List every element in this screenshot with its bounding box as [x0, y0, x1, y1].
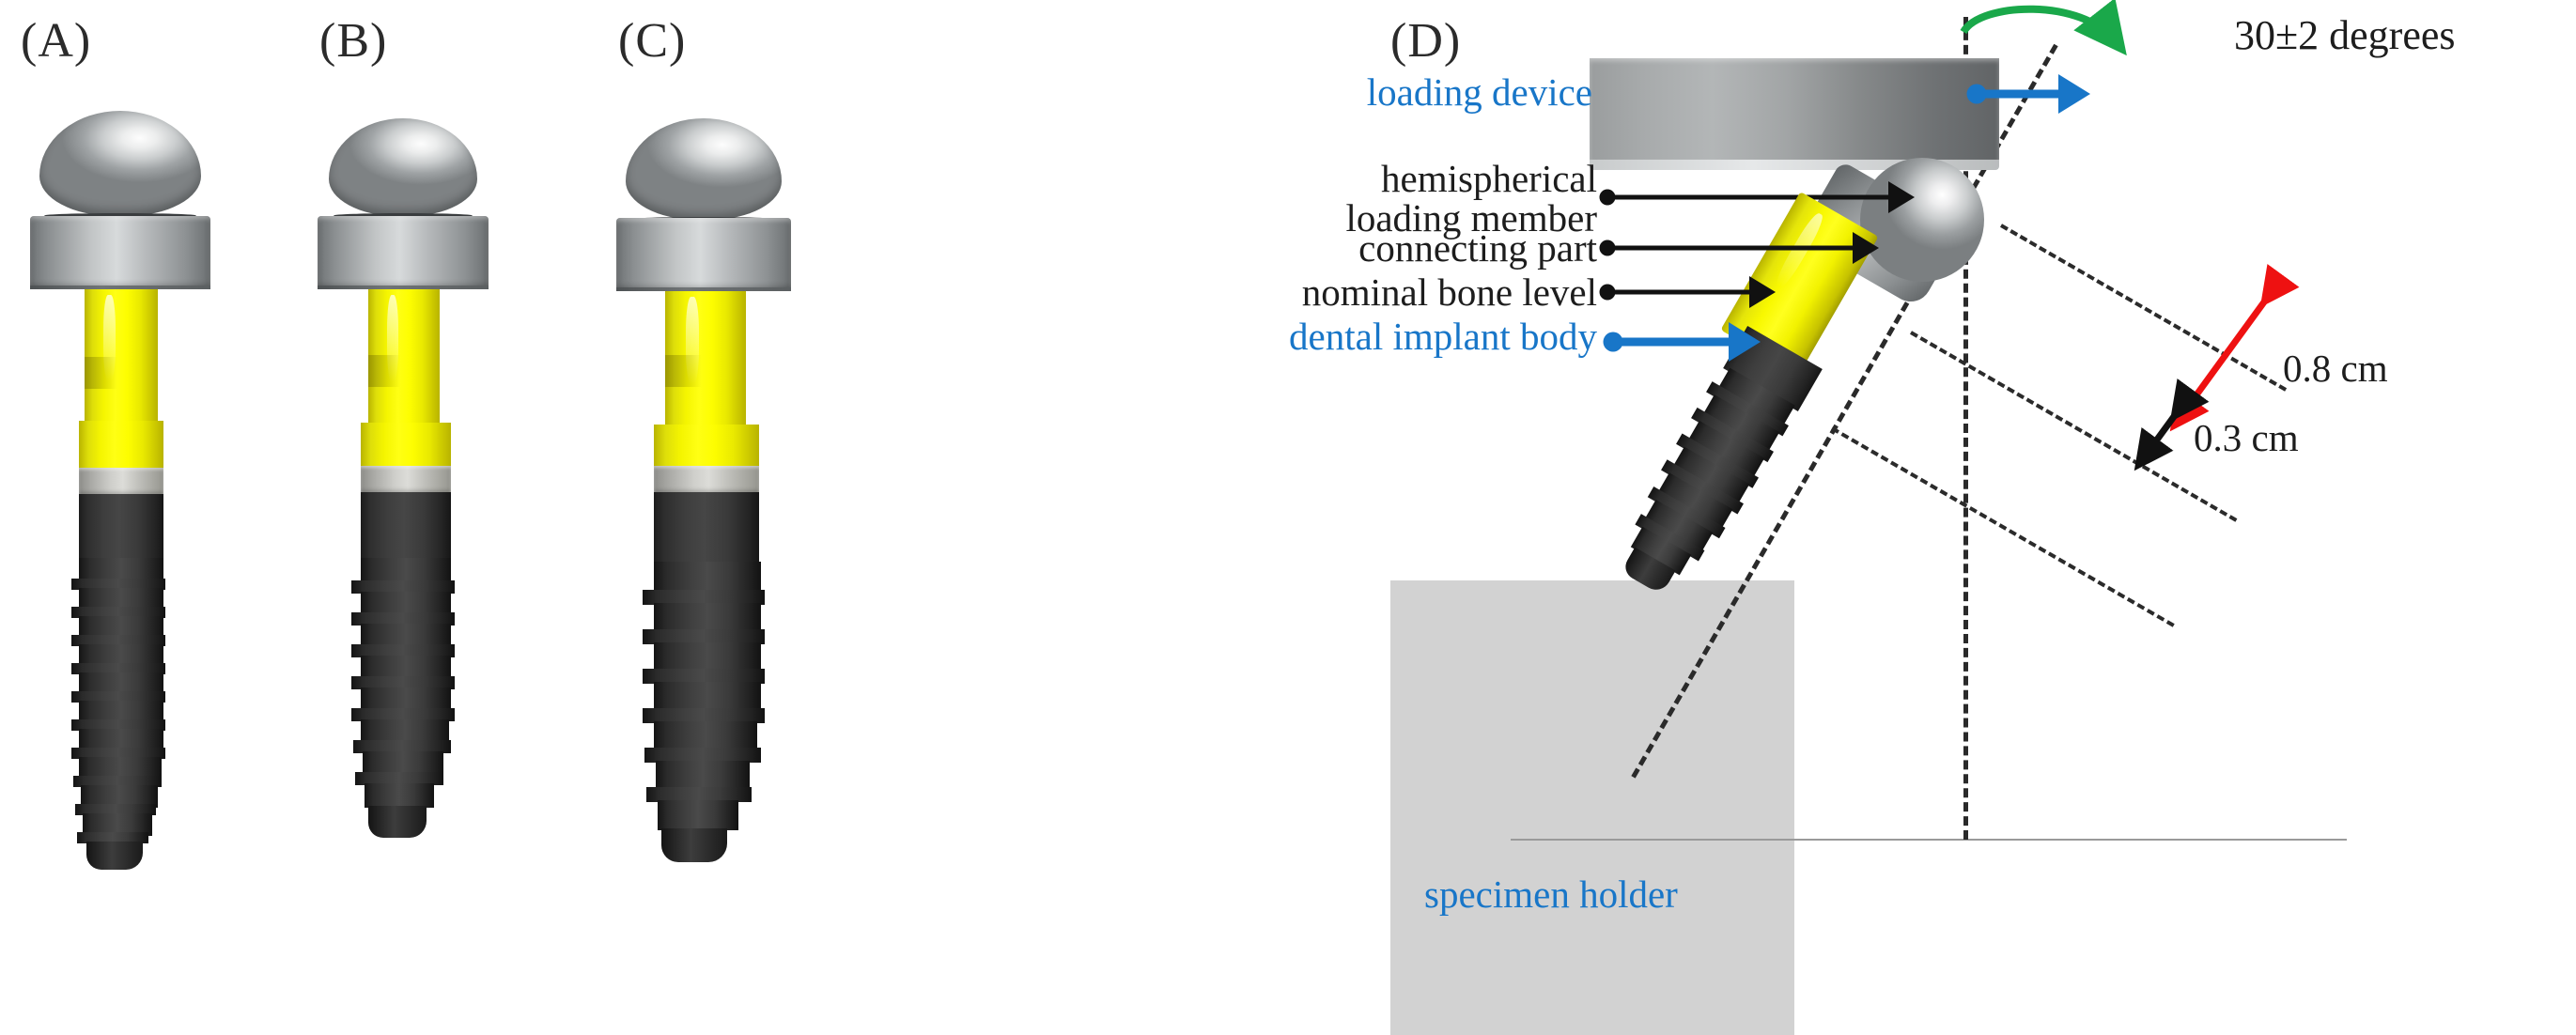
implant-threads-a [66, 558, 177, 868]
nominal-bone-level-band-c [654, 466, 759, 492]
hemispherical-cap-a [39, 111, 201, 216]
dimension-label-0-3cm: 0.3 cm [2194, 415, 2299, 460]
dimension-label-0-8cm: 0.8 cm [2283, 346, 2388, 391]
nominal-bone-level-label: nominal bone level [1287, 273, 1597, 313]
abutment-lower-c [654, 425, 759, 470]
implant-body-threads-d [1603, 363, 1805, 615]
implant-shank-c [654, 492, 759, 565]
hemispherical-cap-b [329, 118, 477, 216]
dental-implant-body-label: dental implant body [1287, 317, 1597, 357]
panel-label-c: (C) [618, 13, 686, 69]
hemispherical-cap-c [626, 118, 782, 220]
metal-collar-a [30, 216, 210, 289]
ground-baseline [1511, 839, 2347, 841]
implant-threads-c [637, 562, 778, 862]
abutment-lower-a [79, 421, 163, 470]
abutment-connecting-part-c [665, 291, 746, 432]
loading-device-leader-wrap [1970, 73, 2092, 115]
abutment-waist-c [665, 355, 746, 387]
panel-label-d: (D) [1390, 13, 1461, 69]
implant-shank-b [361, 492, 451, 562]
loading-device [1590, 58, 1999, 160]
implant-figure-a [17, 111, 224, 533]
abutment-waist-a [85, 357, 158, 389]
metal-collar-b [318, 216, 489, 289]
implant-shank-a [79, 494, 163, 562]
angle-annotation: 30±2 degrees [2234, 11, 2456, 59]
abutment-connecting-part-a [85, 289, 158, 428]
implant-body-c [599, 492, 834, 962]
loading-device-label: loading device [1311, 73, 1592, 113]
panel-d-loading-test-schematic: (D) specimen holder 30±2 degrees loading… [1390, 0, 2576, 1035]
specimen-holder [1390, 580, 1794, 1035]
nominal-bone-level-band-b [361, 466, 451, 492]
metal-collar-c [616, 218, 791, 291]
nominal-bone-level-band-a [79, 468, 163, 494]
connecting-part-label: connecting part [1320, 229, 1597, 269]
implant-body-a [17, 494, 224, 982]
abutment-lower-b [361, 423, 451, 470]
implant-figure-c [599, 111, 834, 533]
implant-threads-b [346, 558, 466, 840]
implant-figure-b [303, 111, 519, 533]
dental-implant-body [1602, 323, 1827, 616]
implant-body-b [303, 492, 519, 962]
abutment-connecting-part-b [368, 289, 440, 430]
abutment-waist-b [368, 355, 440, 387]
panel-label-a: (A) [21, 13, 91, 69]
panel-label-b: (B) [319, 13, 387, 69]
specimen-holder-label: specimen holder [1424, 875, 1678, 915]
